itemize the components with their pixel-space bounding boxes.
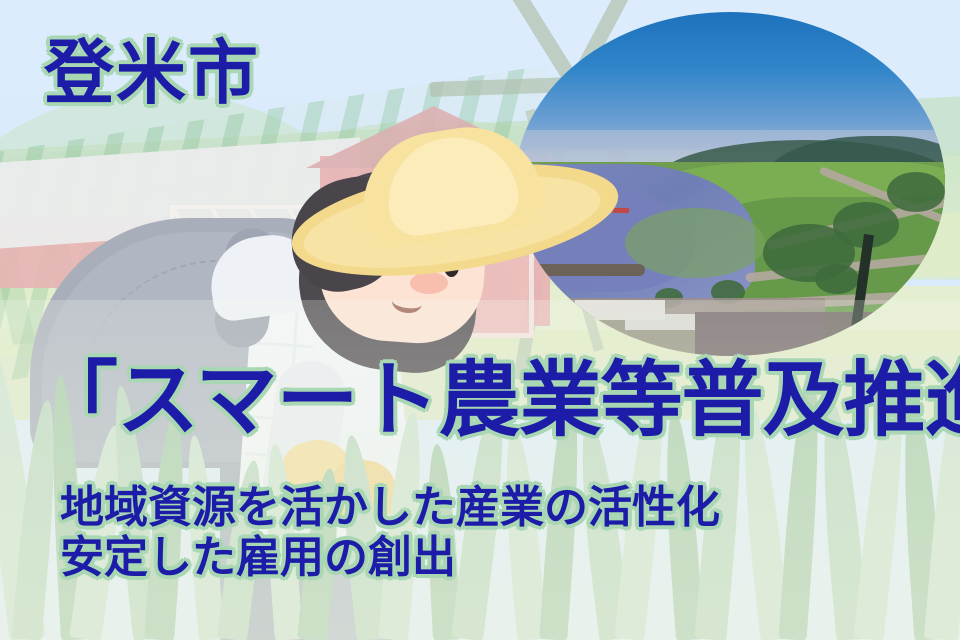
photo-algae-patch bbox=[625, 208, 765, 278]
subtitle-line-2: 安定した雇用の創出 bbox=[60, 536, 456, 580]
page-title: 登米市 bbox=[44, 38, 260, 108]
headline-text: 「スマート農業等普及推進」 bbox=[36, 360, 960, 442]
poster-canvas: 登米市 「スマート農業等普及推進」 地域資源を活かした産業の活性化 安定した雇用… bbox=[0, 0, 960, 640]
photo-building bbox=[625, 314, 695, 330]
photo-tree-cluster bbox=[887, 172, 945, 212]
straw-hat-icon bbox=[290, 130, 620, 270]
photo-tree-cluster bbox=[815, 264, 859, 294]
farmer-blush bbox=[410, 272, 448, 294]
subtitle-line-1: 地域資源を活かした産業の活性化 bbox=[60, 486, 720, 530]
